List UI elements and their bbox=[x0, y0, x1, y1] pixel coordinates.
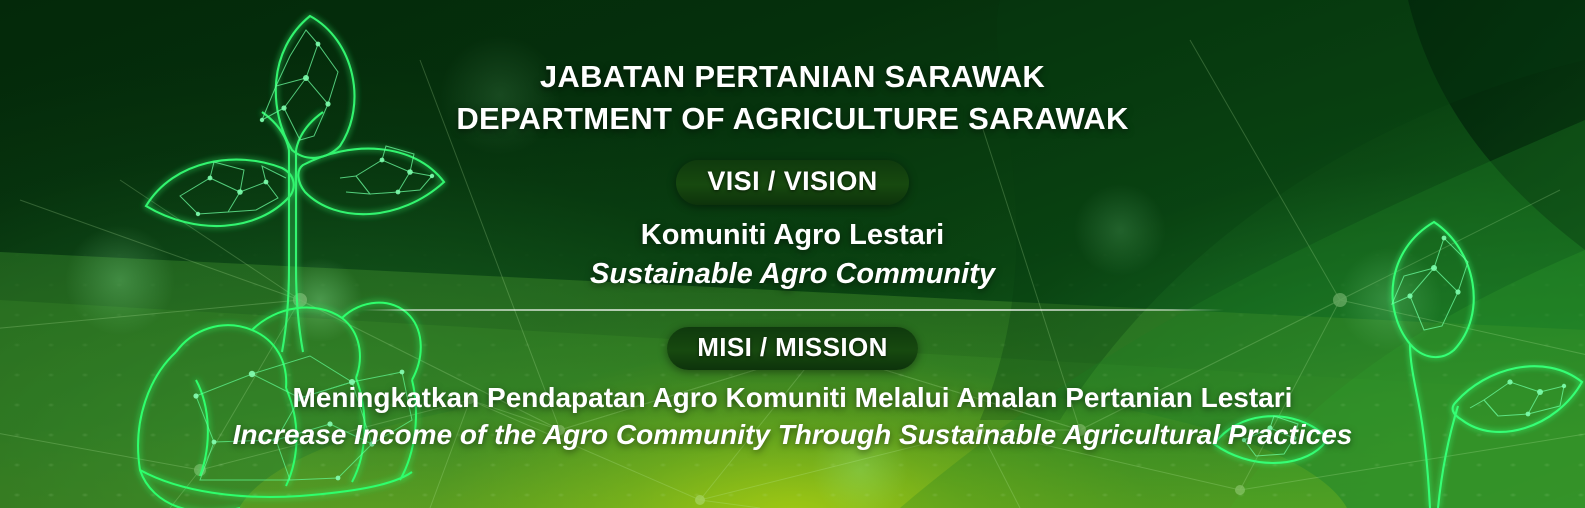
mission-text-en: Increase Income of the Agro Community Th… bbox=[233, 419, 1353, 451]
organization-name-bm: JABATAN PERTANIAN SARAWAK bbox=[456, 56, 1128, 98]
vision-text-en: Sustainable Agro Community bbox=[590, 258, 995, 291]
vision-text-bm: Komuniti Agro Lestari bbox=[641, 219, 944, 252]
organization-title: JABATAN PERTANIAN SARAWAK DEPARTMENT OF … bbox=[456, 56, 1128, 141]
vision-mission-banner: JABATAN PERTANIAN SARAWAK DEPARTMENT OF … bbox=[0, 0, 1585, 508]
mission-text-bm: Meningkatkan Pendapatan Agro Komuniti Me… bbox=[293, 382, 1293, 414]
section-divider bbox=[362, 309, 1224, 311]
mission-badge: MISI / MISSION bbox=[667, 327, 918, 370]
organization-name-en: DEPARTMENT OF AGRICULTURE SARAWAK bbox=[456, 98, 1128, 140]
vision-badge: VISI / VISION bbox=[676, 160, 908, 205]
mission-section: MISI / MISSION Meningkatkan Pendapatan A… bbox=[233, 327, 1353, 451]
vision-section: VISI / VISION Komuniti Agro Lestari Sust… bbox=[590, 160, 995, 291]
